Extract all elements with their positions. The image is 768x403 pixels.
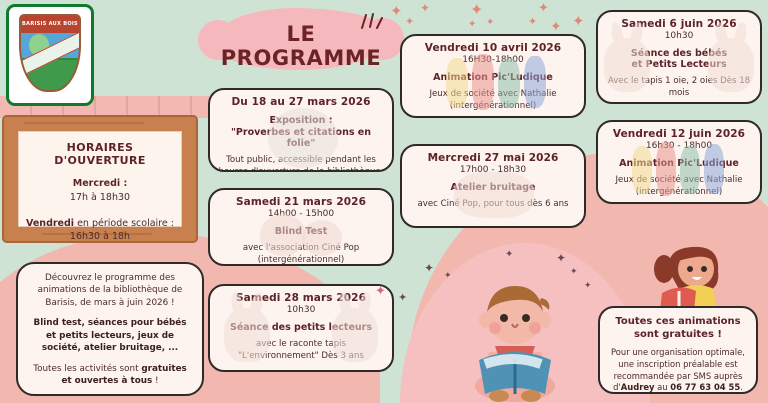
event-date: Du 18 au 27 mars 2026 [218, 96, 384, 108]
star-icon: ✦ [486, 18, 494, 28]
event-card: Vendredi 12 juin 2026 16h30 - 18h00 Anim… [596, 120, 762, 204]
logo: BARISIS AUX BOIS [6, 4, 94, 106]
notice-heading: Toutes ces animations sont gratuites ! [608, 315, 748, 341]
intro-paragraph-3: Toutes les activités sont gratuites et o… [27, 363, 193, 388]
coat-of-arms-shield: BARISIS AUX BOIS [19, 14, 81, 92]
star-icon: ✦ [528, 16, 537, 27]
event-details: Jeux de société avec Nathalie (intergéné… [606, 175, 752, 198]
star-icon: ✦ [375, 285, 386, 298]
event-card: Samedi 28 mars 2026 10h30 Séance des pet… [208, 284, 394, 372]
event-card: Du 18 au 27 mars 2026 Exposition : "Prov… [208, 88, 394, 172]
star-icon: ✦ [424, 262, 434, 274]
girl-reading-illustration [650, 243, 742, 313]
boy-reading-illustration [455, 268, 575, 403]
star-icon: ✦ [390, 4, 403, 19]
poster-canvas: ✦ ✦ ✦ ✦ ✦ ✦ ✦ ✦ ✦ ✦ ✦ ✦ ✦ ✦ ✦ ✦ ✦ ✦ BARI… [0, 0, 768, 403]
opening-hours-day-1: Mercredi : [73, 178, 128, 189]
intro-paragraph-1: Découvrez le programme des animations de… [27, 272, 193, 309]
logo-text: BARISIS AUX BOIS [21, 16, 79, 33]
sparkle-icon [358, 12, 384, 34]
star-icon: ✦ [405, 16, 414, 27]
event-card: Mercredi 27 mai 2026 17h00 - 18h30 Ateli… [400, 144, 586, 228]
star-icon: ✦ [538, 2, 549, 15]
intro-paragraph-2: Blind test, séances pour bébés et petits… [27, 317, 193, 354]
event-date: Mercredi 27 mai 2026 [410, 152, 576, 164]
star-icon: ✦ [505, 250, 513, 260]
star-icon: ✦ [570, 268, 578, 277]
event-card: Vendredi 10 avril 2026 16H30-18h00 Anima… [400, 34, 586, 118]
opening-hours-title: HORAIRES D'OUVERTURE [19, 141, 181, 167]
event-time: 14h00 - 15h00 [218, 209, 384, 219]
opening-hours-day-2-note: en période scolaire : [74, 218, 174, 229]
event-card: Samedi 21 mars 2026 14h00 - 15h00 Blind … [208, 188, 394, 266]
event-time: 16h30 - 18h00 [606, 141, 752, 151]
opening-hours-time-2: 16h30 à 18h [19, 230, 181, 244]
intro-card: Découvrez le programme des animations de… [16, 262, 204, 396]
star-icon: ✦ [468, 20, 476, 30]
opening-hours-day-2: Vendredi [26, 218, 74, 229]
star-icon: ✦ [470, 2, 483, 18]
star-icon: ✦ [398, 292, 407, 303]
event-date: Samedi 6 juin 2026 [606, 18, 752, 30]
free-notice-card: Toutes ces animations sont gratuites ! P… [598, 306, 758, 394]
star-icon: ✦ [550, 20, 562, 34]
event-date: Vendredi 10 avril 2026 [410, 42, 576, 54]
opening-hours-frame: HORAIRES D'OUVERTURE Mercredi : 17h à 18… [2, 115, 198, 243]
star-icon: ✦ [420, 2, 430, 14]
event-date: Samedi 21 mars 2026 [218, 196, 384, 208]
notice-body: Pour une organisation optimale, une insc… [608, 347, 748, 394]
event-time: 16H30-18h00 [410, 55, 576, 65]
opening-hours-time-1: 17h à 18h30 [19, 191, 181, 205]
event-date: Vendredi 12 juin 2026 [606, 128, 752, 140]
event-card: Samedi 6 juin 2026 10h30 Séance des bébé… [596, 10, 762, 104]
star-icon: ✦ [444, 272, 452, 281]
star-icon: ✦ [584, 282, 592, 291]
event-name: Animation Pic'Ludique [606, 158, 752, 169]
star-icon: ✦ [572, 14, 585, 29]
star-icon: ✦ [556, 252, 566, 264]
